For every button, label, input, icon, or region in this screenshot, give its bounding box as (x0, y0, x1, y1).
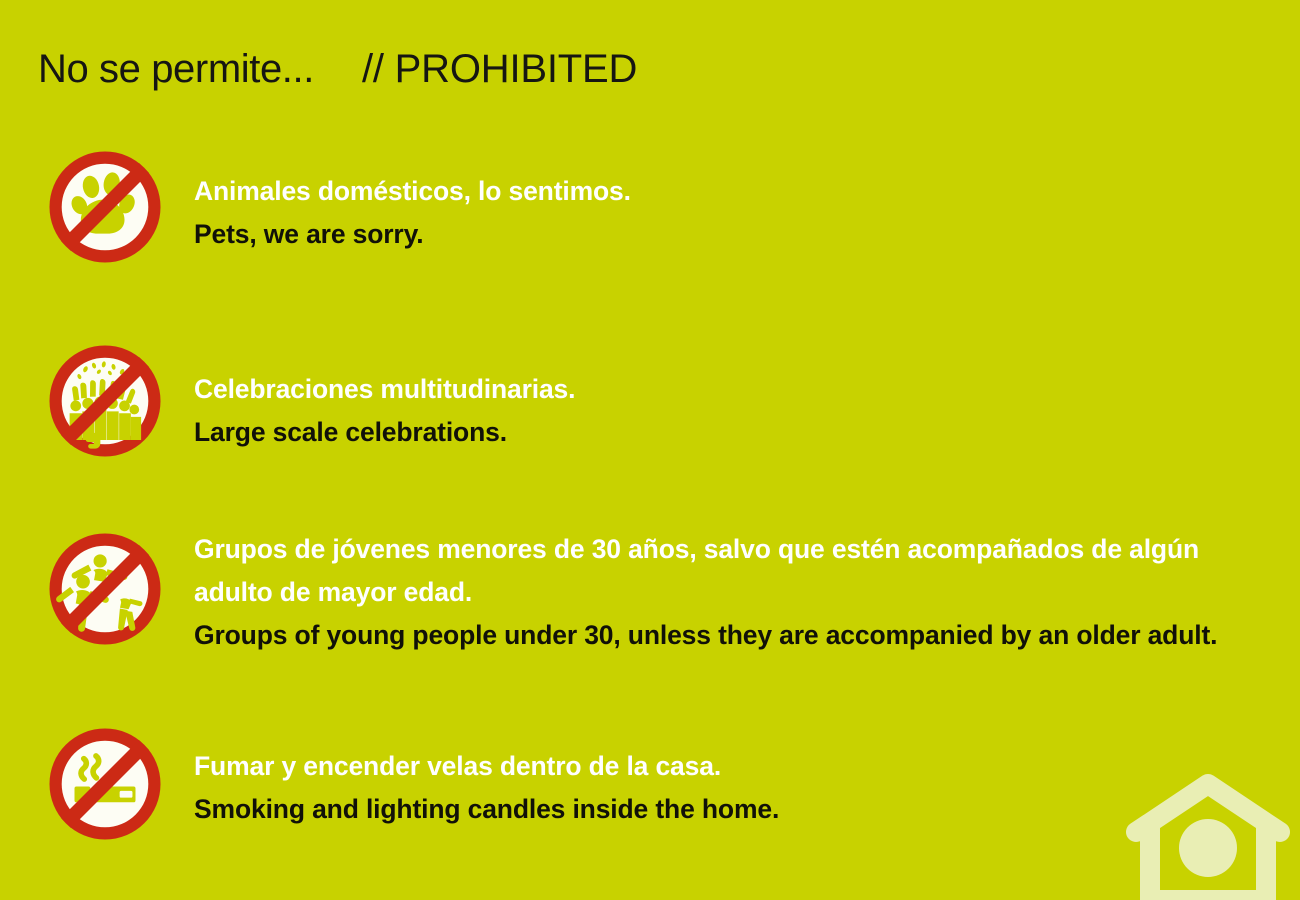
page-title-spanish: No se permite... (38, 47, 314, 92)
rule-text-spanish: Celebraciones multitudinarias. (194, 368, 575, 411)
rule-text: Grupos de jóvenes menores de 30 años, sa… (194, 528, 1284, 657)
no-smoking-candles-icon (44, 723, 166, 845)
list-item: Animales domésticos, lo sentimos. Pets, … (0, 146, 1300, 268)
rule-text: Celebraciones multitudinarias. Large sca… (194, 340, 575, 454)
rule-text-english: Smoking and lighting candles inside the … (194, 788, 779, 831)
prohibition-notice-page: No se permite... // PROHIBITED (0, 0, 1300, 900)
list-item: Fumar y encender velas dentro de la casa… (0, 723, 1300, 845)
rule-text-spanish: Animales domésticos, lo sentimos. (194, 170, 631, 213)
rule-text: Animales domésticos, lo sentimos. Pets, … (194, 146, 631, 256)
page-title: No se permite... // PROHIBITED (38, 47, 637, 92)
rule-text-english: Groups of young people under 30, unless … (194, 614, 1284, 657)
rule-text: Fumar y encender velas dentro de la casa… (194, 723, 779, 831)
list-item: Grupos de jóvenes menores de 30 años, sa… (0, 528, 1300, 657)
rule-icon-container (44, 340, 168, 462)
rule-icon-container (44, 146, 168, 268)
no-pets-paw-icon (44, 146, 166, 268)
list-item: Celebraciones multitudinarias. Large sca… (0, 340, 1300, 462)
rule-text-spanish: Fumar y encender velas dentro de la casa… (194, 745, 779, 788)
rule-text-english: Large scale celebrations. (194, 411, 575, 454)
page-title-english: // PROHIBITED (362, 47, 637, 92)
rule-icon-container (44, 528, 168, 650)
rule-icon-container (44, 723, 168, 845)
no-large-celebrations-crowd-icon (44, 340, 166, 462)
house-logo (1124, 770, 1292, 900)
no-young-groups-icon (44, 528, 166, 650)
rule-text-spanish: Grupos de jóvenes menores de 30 años, sa… (194, 528, 1284, 614)
rule-text-english: Pets, we are sorry. (194, 213, 631, 256)
